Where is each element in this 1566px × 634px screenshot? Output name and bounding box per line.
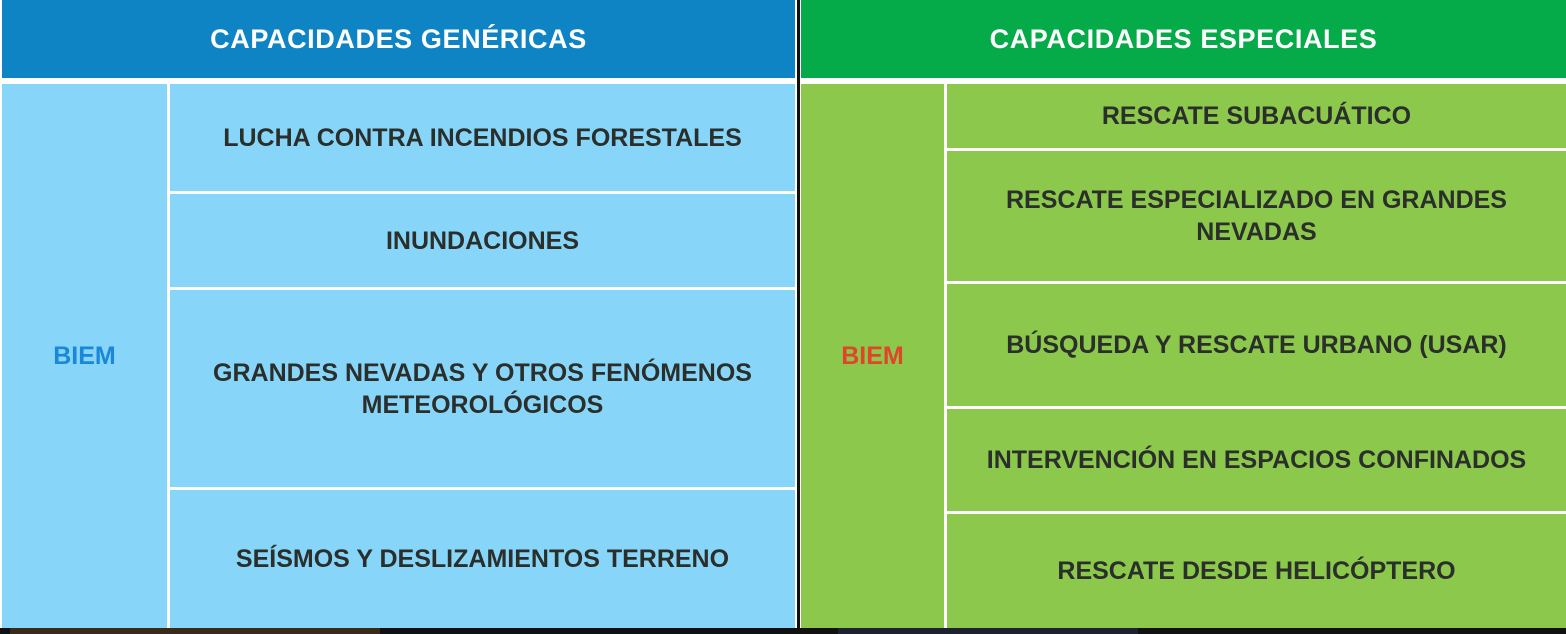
special-capabilities-body: BIEM RESCATE SUBACUÁTICO RESCATE ESPECIA… bbox=[801, 84, 1566, 628]
table-row: RESCATE ESPECIALIZADO EN GRANDES NEVADAS bbox=[947, 151, 1566, 284]
special-rows-column: RESCATE SUBACUÁTICO RESCATE ESPECIALIZAD… bbox=[947, 84, 1566, 628]
table-row: INTERVENCIÓN EN ESPACIOS CONFINADOS bbox=[947, 409, 1566, 514]
bottom-edge-strip bbox=[0, 628, 1566, 634]
bottom-edge-chunk-right bbox=[838, 628, 1138, 634]
special-capabilities-table: CAPACIDADES ESPECIALES BIEM RESCATE SUBA… bbox=[801, 0, 1566, 628]
generic-capabilities-body: BIEM LUCHA CONTRA INCENDIOS FORESTALES I… bbox=[2, 84, 795, 628]
generic-capabilities-table: CAPACIDADES GENÉRICAS BIEM LUCHA CONTRA … bbox=[2, 0, 795, 628]
table-row: GRANDES NEVADAS Y OTROS FENÓMENOS METEOR… bbox=[170, 290, 795, 490]
table-row: RESCATE SUBACUÁTICO bbox=[947, 84, 1566, 151]
generic-capabilities-header: CAPACIDADES GENÉRICAS bbox=[2, 0, 795, 78]
table-row: SEÍSMOS Y DESLIZAMIENTOS TERRENO bbox=[170, 490, 795, 628]
table-row: BÚSQUEDA Y RESCATE URBANO (USAR) bbox=[947, 284, 1566, 409]
table-row: RESCATE DESDE HELICÓPTERO bbox=[947, 514, 1566, 628]
generic-unit-label-biem: BIEM bbox=[2, 84, 170, 628]
capacities-comparison-page: CAPACIDADES GENÉRICAS BIEM LUCHA CONTRA … bbox=[0, 0, 1566, 634]
tables-separator bbox=[797, 0, 800, 634]
table-row: LUCHA CONTRA INCENDIOS FORESTALES bbox=[170, 84, 795, 194]
special-unit-label-biem: BIEM bbox=[801, 84, 947, 628]
bottom-edge-chunk-left bbox=[10, 628, 380, 634]
special-capabilities-header: CAPACIDADES ESPECIALES bbox=[801, 0, 1566, 78]
generic-rows-column: LUCHA CONTRA INCENDIOS FORESTALES INUNDA… bbox=[170, 84, 795, 628]
table-row: INUNDACIONES bbox=[170, 194, 795, 290]
